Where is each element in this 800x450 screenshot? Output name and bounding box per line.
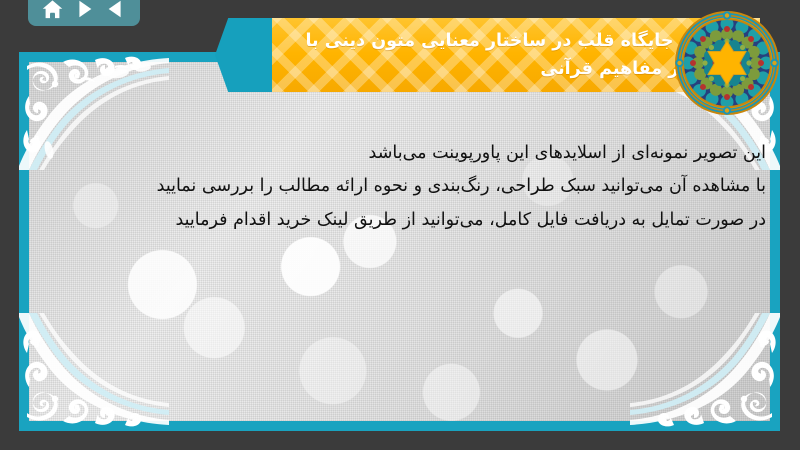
triangle-left-icon (105, 0, 127, 20)
slide-stage: این تصویر نمونه‌ای از اسلایدهای این پاور… (0, 0, 800, 450)
home-icon (41, 0, 64, 21)
next-button[interactable] (71, 0, 97, 21)
slide-frame: این تصویر نمونه‌ای از اسلایدهای این پاور… (19, 52, 780, 431)
home-button[interactable] (39, 0, 65, 21)
body-line-1: این تصویر نمونه‌ای از اسلایدهای این پاور… (59, 137, 766, 170)
previous-button[interactable] (103, 0, 129, 21)
slide-body-text: این تصویر نمونه‌ای از اسلایدهای این پاور… (59, 137, 766, 237)
navigation-bar (28, 0, 140, 26)
body-line-3: در صورت تمایل به دریافت فایل کامل، می‌تو… (59, 204, 766, 237)
triangle-right-icon (73, 0, 95, 20)
body-line-2: با مشاهده آن می‌توانید سبک طراحی، رنگ‌بن… (59, 170, 766, 203)
slide-content-panel (29, 62, 770, 421)
mandala-medallion-icon (672, 8, 782, 118)
